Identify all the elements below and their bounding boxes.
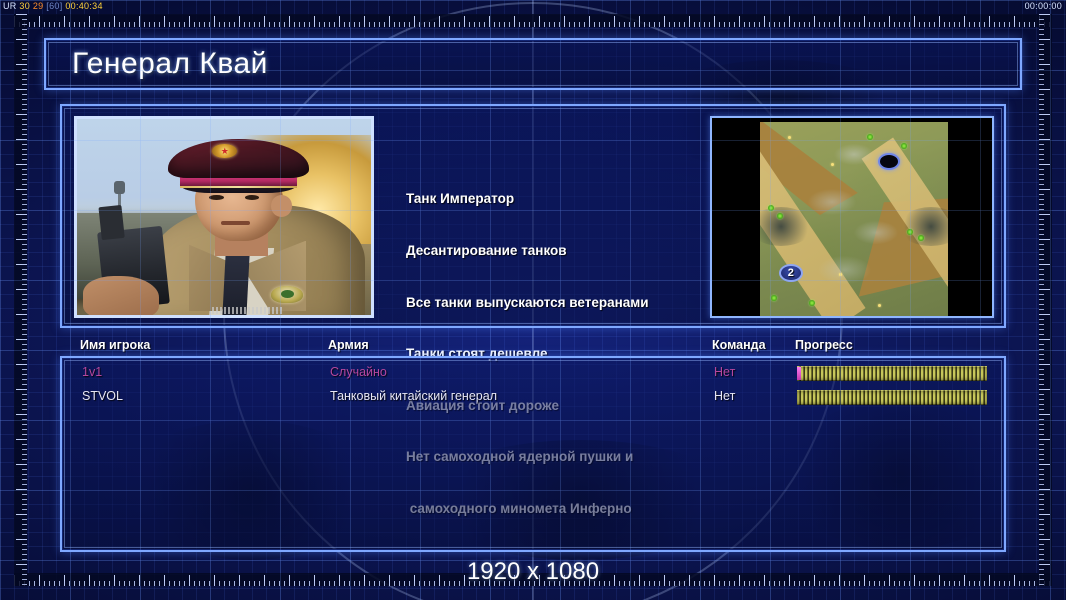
map-resource-icon [788,136,791,139]
player-team: Нет [714,389,735,403]
general-description: Танк Император Десантирование танков Все… [406,156,746,552]
map-resource-icon [878,304,881,307]
background-blotch [420,440,740,560]
portrait-sun-glow [218,135,374,304]
column-header-army: Армия [328,338,369,352]
player-army: Случайно [330,365,387,379]
background-blotch [120,420,380,560]
portrait-brow [206,190,262,194]
portrait-uniform [148,205,366,318]
title-panel: Генерал Квай [44,38,1022,90]
portrait-cap-crown [168,139,309,178]
map-tree-icon [768,205,774,211]
map-shadow [899,207,948,246]
game-screen: UR 30 29 [60] 00:40:34 00:00:00 Генерал … [0,0,1066,600]
status-label: UR [3,1,17,11]
description-line: Все танки выпускаются ветеранами [406,294,746,311]
status-value-1: 30 [19,1,30,11]
map-road [861,137,948,316]
portrait-eye-right [245,195,260,200]
portrait-shirt [209,248,274,318]
general-info-panel: Танк Император Десантирование танков Все… [60,104,1006,328]
resolution-label: 1920 x 1080 [0,558,1066,586]
panel-inner-border [48,42,1018,86]
portrait-lapel-right [242,241,307,312]
player-name: 1v1 [82,365,102,379]
description-line: Танки стоят дешевле [406,345,746,362]
portrait-tank [74,213,248,299]
map-tree-icon [918,235,924,241]
map-sand-wedge [760,122,858,215]
portrait-cap-band [180,175,298,186]
portrait-pistol [97,226,170,311]
description-line: самоходного миномета Инферно [406,500,746,517]
portrait-cap-gold-trim [180,183,298,188]
portrait-lapel-left [189,244,242,311]
background-blotch [640,60,920,170]
map-tree-icon [867,134,873,140]
players-list-panel: 1v1 Случайно Нет STVOL Танковый китайски… [60,356,1006,552]
player-progress-bar [797,366,987,381]
panel-inner-border [64,360,1002,548]
portrait-mouth [221,221,250,225]
map-tree-icon [907,229,913,235]
ruler-left [14,14,27,586]
portrait-cap-star-emblem [212,144,237,158]
table-row[interactable]: 1v1 Случайно Нет [66,362,1000,386]
ruler-top [14,14,1052,27]
player-team: Нет [714,365,735,379]
blueprint-crosshair-decoration [532,0,534,600]
player-army: Танковый китайский генерал [330,389,497,403]
portrait-neck [215,225,268,256]
status-time: 00:40:34 [65,1,102,11]
portrait-ground [77,244,371,315]
players-table-header: Имя игрока Армия Команда Прогресс [60,336,1006,358]
status-value-3: [60] [46,1,62,11]
portrait-medal-badge [271,286,303,304]
map-start-position-empty [878,153,900,170]
ruler-right [1039,14,1052,586]
map-preview[interactable]: 2 [710,116,994,318]
map-tree-icon [771,295,777,301]
portrait-caption-strip [212,307,283,314]
table-row[interactable]: STVOL Танковый китайский генерал Нет [66,386,1000,410]
background-blotch [780,400,1020,550]
column-header-name: Имя игрока [80,338,150,352]
description-line: Танк Император [406,190,746,207]
players-rows: 1v1 Случайно Нет STVOL Танковый китайски… [66,362,1000,546]
status-value-2: 29 [33,1,44,11]
portrait-pole [118,190,121,249]
panel-inner-border [64,108,1002,324]
player-progress-bar [797,390,987,405]
map-tree-icon [809,300,815,306]
map-shadow [760,207,813,246]
portrait-ear [271,195,292,217]
page-title: Генерал Квай [72,47,268,81]
player-name: STVOL [82,389,123,403]
description-line: Нет самоходной ядерной пушки и [406,448,746,465]
map-sand-wedge [850,192,948,297]
portrait-cap-brim [180,178,298,194]
portrait-tie [222,252,249,318]
column-header-progress: Прогресс [795,338,853,352]
map-tree-icon [777,213,783,219]
map-resource-icon [839,273,842,276]
description-line: Десантирование танков [406,242,746,259]
map-terrain: 2 [760,122,948,316]
map-start-position-2: 2 [779,264,803,282]
portrait-face [195,170,283,241]
map-tree-icon [901,143,907,149]
blueprint-circle-decoration [223,2,843,600]
status-bar-right: 00:00:00 [1025,1,1062,11]
map-road [760,122,866,316]
portrait-eye-left [209,195,224,200]
general-portrait [74,116,374,318]
description-line: Авиация стоит дороже [406,397,746,414]
column-header-team: Команда [712,338,766,352]
portrait-hand [83,276,159,318]
portrait-sky [77,119,371,315]
map-river-network [775,134,933,305]
status-bar-left: UR 30 29 [60] 00:40:34 [3,1,103,11]
map-resource-icon [831,163,834,166]
